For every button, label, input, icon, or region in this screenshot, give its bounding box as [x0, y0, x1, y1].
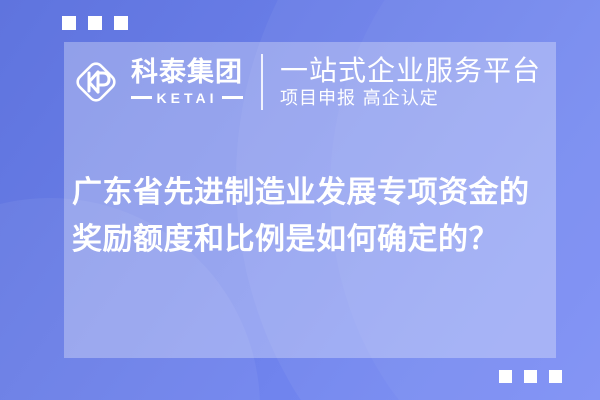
dots-decoration-top-left	[62, 16, 128, 30]
decor-square-icon	[524, 370, 537, 383]
brand-name-en: KETAI	[157, 91, 218, 105]
decor-square-icon	[549, 370, 562, 383]
decor-square-icon	[62, 16, 76, 30]
banner-header: 科泰集团 KETAI 一站式企业服务平台 项目申报 高企认定	[64, 42, 556, 122]
wordmark-rule-right	[222, 96, 243, 99]
decor-square-icon	[499, 370, 512, 383]
decor-square-icon	[114, 16, 128, 30]
decor-square-icon	[88, 16, 102, 30]
promo-banner: 科泰集团 KETAI 一站式企业服务平台 项目申报 高企认定 广东省先进制造业发…	[0, 0, 600, 400]
brand-wordmark: 科泰集团 KETAI	[131, 59, 243, 104]
ketai-diamond-monogram-icon	[70, 56, 122, 108]
brand-tagline: 一站式企业服务平台 项目申报 高企认定	[280, 55, 541, 110]
dots-decoration-bottom-right	[499, 370, 562, 383]
header-divider	[261, 54, 263, 110]
brand-name-en-row: KETAI	[131, 91, 243, 105]
wordmark-rule-left	[131, 96, 152, 99]
tagline-secondary: 项目申报 高企认定	[280, 88, 541, 110]
article-title: 广东省先进制造业发展专项资金的奖励额度和比例是如何确定的？	[64, 170, 556, 263]
brand-logo: 科泰集团 KETAI	[70, 56, 243, 108]
brand-name-cn: 科泰集团	[131, 59, 243, 87]
tagline-primary: 一站式企业服务平台	[280, 55, 541, 86]
